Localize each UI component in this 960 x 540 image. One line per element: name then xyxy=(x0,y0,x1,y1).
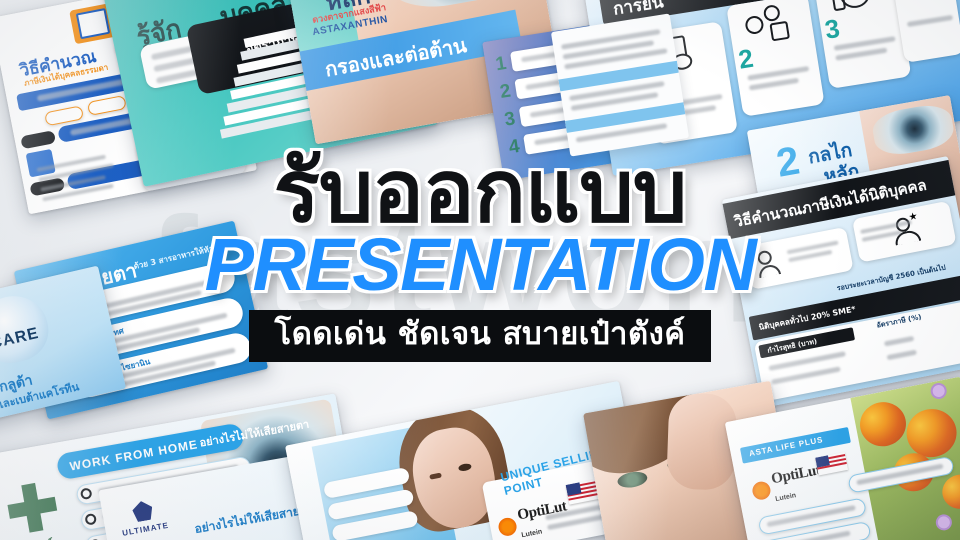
ultimate-logo-icon xyxy=(131,499,154,522)
logo-label-thai: จุฬารัตน์ xyxy=(8,535,55,540)
optilut-sun-icon xyxy=(751,480,772,501)
banner-canvas: fastwork วิธีคำนวณ ภาษีเงินได้บุคคลธรรมด… xyxy=(0,0,960,540)
brand-label: ULTIMATE xyxy=(121,521,169,538)
optilut-logo: OptiLut Lutein xyxy=(749,461,825,510)
list-number: 4 xyxy=(507,136,521,159)
slide-text-panel-left[interactable] xyxy=(551,13,689,156)
list-number: 1 xyxy=(494,53,508,76)
list-number: 2 xyxy=(499,81,513,104)
person-gear-icon xyxy=(741,2,798,48)
brand-sub: Lutein xyxy=(775,492,797,503)
mechanism-number: 2 xyxy=(774,141,803,184)
brand-name: OptiLut xyxy=(770,462,822,487)
hospital-logo xyxy=(5,480,61,536)
list-number: 3 xyxy=(503,108,517,131)
brand-sub: Lutein xyxy=(521,528,543,539)
slide-corporate-income-tax[interactable]: วิธีคำนวณภาษีเงินได้นิติบุคคล ★ รอบระยะเ… xyxy=(722,156,960,408)
us-flag-icon xyxy=(815,452,848,475)
person-star-icon: ★ xyxy=(890,212,925,245)
person-check-icon xyxy=(755,248,785,278)
optilut-sun-icon xyxy=(497,516,518,537)
